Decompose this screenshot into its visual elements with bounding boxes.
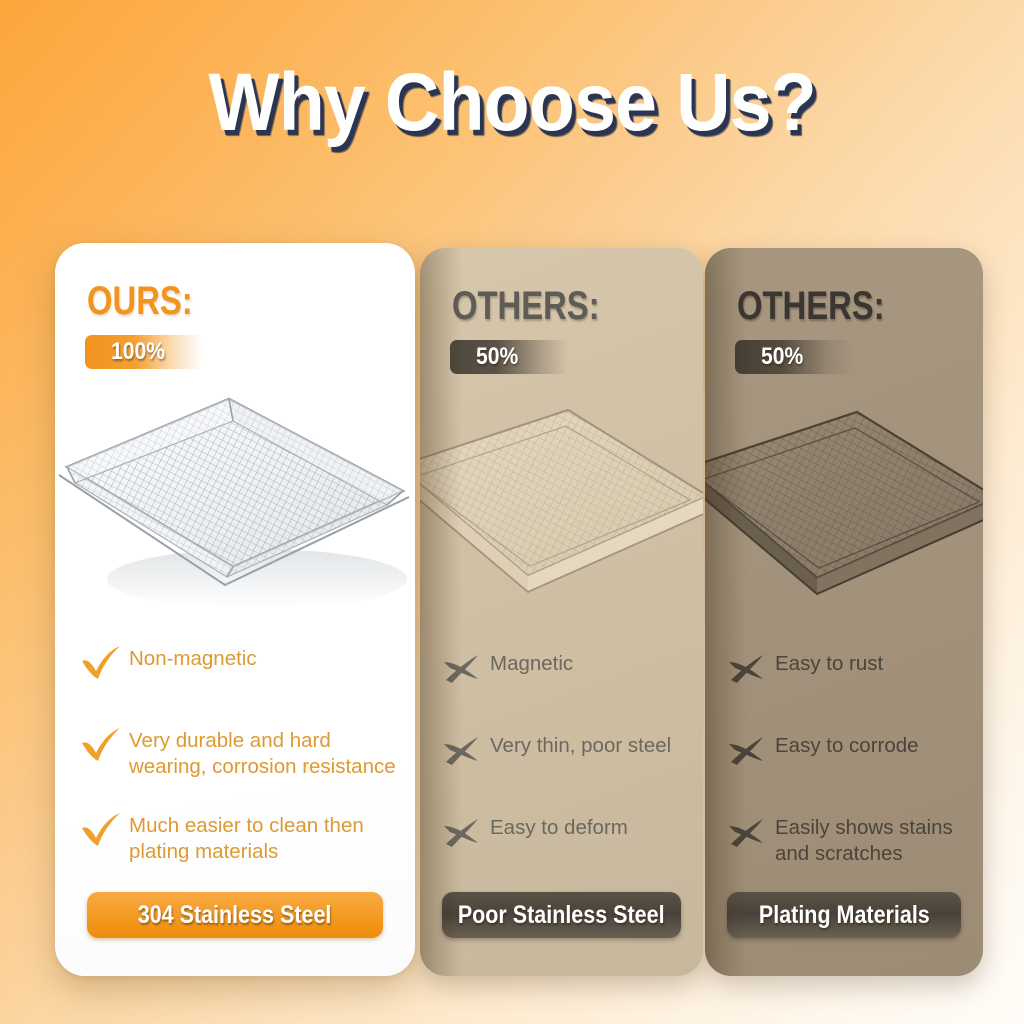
list-item: Very durable and hard wearing, corrosion… bbox=[79, 725, 397, 780]
list-item: Magnetic bbox=[440, 648, 694, 700]
banner-label: 304 Stainless Steel bbox=[138, 903, 332, 928]
list-item: Easy to rust bbox=[725, 648, 979, 700]
comparison-card-plating-materials: OTHERS: 50% Easy to rust Easy to corrode bbox=[705, 248, 983, 976]
list-item: Very thin, poor steel bbox=[440, 730, 694, 782]
comparison-card-poor-stainless-steel: OTHERS: 50% Magnetic Very thin, poor ste… bbox=[420, 248, 703, 976]
cross-icon bbox=[725, 648, 775, 693]
list-item: Easy to corrode bbox=[725, 730, 979, 782]
list-item: Easily shows stains and scratches bbox=[725, 812, 979, 867]
percent-badge-others-1: 50% bbox=[450, 340, 568, 374]
list-item-label: Much easier to clean then plating materi… bbox=[129, 810, 397, 865]
feature-list-ours: Non-magnetic Very durable and hard weari… bbox=[79, 643, 397, 895]
banner-label: Poor Stainless Steel bbox=[458, 903, 665, 928]
card-heading-others-2: OTHERS: bbox=[737, 286, 885, 326]
check-icon bbox=[79, 725, 129, 770]
product-image-304-stainless-steel bbox=[55, 361, 415, 661]
list-item-label: Easy to rust bbox=[775, 648, 883, 677]
cross-icon bbox=[725, 812, 775, 857]
list-item-label: Easily shows stains and scratches bbox=[775, 812, 979, 867]
percent-value: 100% bbox=[111, 340, 165, 364]
list-item-label: Easy to corrode bbox=[775, 730, 919, 759]
cross-icon bbox=[725, 730, 775, 775]
page-title-wrap: Why Choose Us? bbox=[0, 62, 1024, 144]
list-item-label: Easy to deform bbox=[490, 812, 628, 841]
list-item: Easy to deform bbox=[440, 812, 694, 864]
list-item: Much easier to clean then plating materi… bbox=[79, 810, 397, 865]
cross-icon bbox=[440, 812, 490, 857]
percent-badge-ours: 100% bbox=[85, 335, 203, 369]
feature-list-poor-stainless-steel: Magnetic Very thin, poor steel Easy to d… bbox=[440, 648, 694, 894]
list-item-label: Magnetic bbox=[490, 648, 573, 677]
card-banner-poor-stainless-steel: Poor Stainless Steel bbox=[442, 892, 681, 938]
list-item: Non-magnetic bbox=[79, 643, 397, 695]
page-title: Why Choose Us? bbox=[208, 62, 815, 144]
card-heading-others-1: OTHERS: bbox=[452, 286, 600, 326]
comparison-card-ours: OURS: 100% Non-magnetic Very durable and… bbox=[55, 243, 415, 976]
cross-icon bbox=[440, 648, 490, 693]
cross-icon bbox=[440, 730, 490, 775]
feature-list-plating-materials: Easy to rust Easy to corrode Easily show… bbox=[725, 648, 979, 897]
card-heading-ours: OURS: bbox=[87, 281, 193, 321]
check-icon bbox=[79, 643, 129, 688]
percent-value: 50% bbox=[476, 345, 518, 369]
list-item-label: Non-magnetic bbox=[129, 643, 257, 672]
card-banner-plating-materials: Plating Materials bbox=[727, 892, 961, 938]
check-icon bbox=[79, 810, 129, 855]
list-item-label: Very thin, poor steel bbox=[490, 730, 671, 759]
product-image-plating-materials bbox=[705, 366, 983, 666]
card-banner-304-stainless-steel: 304 Stainless Steel bbox=[87, 892, 383, 938]
infographic-canvas: Why Choose Us? bbox=[0, 0, 1024, 1024]
percent-value: 50% bbox=[761, 345, 803, 369]
banner-label: Plating Materials bbox=[759, 903, 930, 928]
product-image-poor-stainless-steel bbox=[420, 366, 703, 666]
list-item-label: Very durable and hard wearing, corrosion… bbox=[129, 725, 397, 780]
percent-badge-others-2: 50% bbox=[735, 340, 853, 374]
